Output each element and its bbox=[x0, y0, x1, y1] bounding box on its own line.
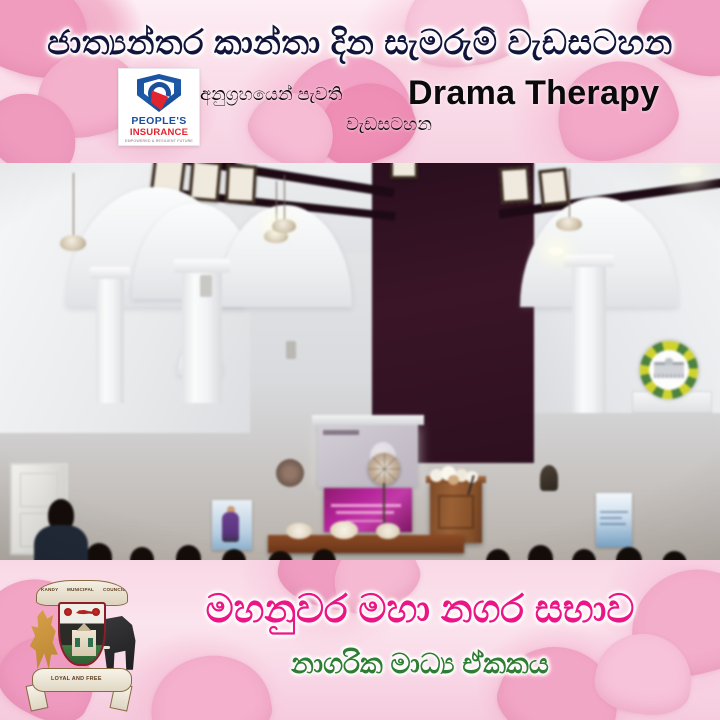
audience-member bbox=[222, 549, 246, 560]
wall-speaker bbox=[200, 275, 212, 297]
poster-main-title: ජාත්‍යන්තර කාන්තා දින සැමරුම් වැඩසටහන bbox=[0, 24, 720, 63]
wall-speaker bbox=[286, 341, 296, 359]
kandy-council-watermark-logo bbox=[640, 341, 698, 399]
audience-member bbox=[86, 543, 112, 560]
projection-screen bbox=[318, 425, 418, 487]
audience-member bbox=[616, 547, 642, 560]
podium-flowers bbox=[428, 465, 484, 485]
wall-picture-frame bbox=[188, 163, 221, 202]
audience-member bbox=[176, 545, 201, 560]
ceremonial-parasol bbox=[368, 453, 400, 485]
wall-picture-frame bbox=[499, 166, 531, 204]
insurance-logo-tagline: EMPOWERED & RESILIENT FUTURE bbox=[125, 139, 193, 143]
wall-picture-frame bbox=[390, 163, 418, 179]
audience-member bbox=[130, 547, 154, 560]
shield-icon bbox=[137, 74, 181, 112]
standee-banner bbox=[212, 500, 252, 550]
ceiling-light-glow bbox=[548, 247, 564, 255]
blue-rollup-banner bbox=[596, 493, 632, 547]
audience-member bbox=[662, 551, 687, 560]
top-banner: ජාත්‍යන්තර කාන්තා දින සැමරුම් වැඩසටහන PE… bbox=[0, 0, 720, 163]
program-title-english: Drama Therapy bbox=[408, 74, 659, 113]
speaker-podium bbox=[430, 481, 482, 543]
column-capital bbox=[90, 267, 130, 279]
media-unit-sinhala: නාගරික මාධ්‍ය ඒකකය bbox=[0, 648, 720, 681]
audience-member bbox=[572, 549, 596, 560]
decor-medallion bbox=[276, 459, 304, 487]
event-photograph bbox=[0, 163, 720, 560]
standing-person bbox=[34, 525, 88, 560]
hanging-lamp bbox=[556, 169, 582, 239]
ceiling-light-glow bbox=[680, 167, 702, 177]
wall-picture-frame bbox=[225, 164, 257, 204]
column bbox=[96, 273, 124, 403]
sponsored-by-text: අනුග්‍රහයෙන් පැවති bbox=[200, 84, 342, 105]
column-capital bbox=[174, 259, 230, 273]
statue-bust bbox=[540, 465, 558, 491]
table-flower-arrangement bbox=[330, 521, 358, 539]
audience-member bbox=[528, 545, 553, 560]
column bbox=[572, 263, 606, 413]
audience-member bbox=[486, 549, 510, 560]
event-poster: ජාත්‍යන්තර කාන්තා දින සැමරුම් වැඩසටහන PE… bbox=[0, 0, 720, 720]
peoples-insurance-logo: PEOPLE'S INSURANCE EMPOWERED & RESILIENT… bbox=[118, 68, 200, 146]
council-building-icon bbox=[654, 362, 684, 378]
column-capital bbox=[564, 255, 614, 267]
insurance-logo-name: PEOPLE'S bbox=[131, 115, 186, 127]
council-name-sinhala: මහනුවර මහා නගර සභාව bbox=[0, 588, 720, 632]
hanging-lamp bbox=[60, 173, 86, 263]
table-flower-arrangement bbox=[376, 523, 400, 539]
screen-mount bbox=[312, 415, 424, 425]
insurance-logo-subname: INSURANCE bbox=[130, 127, 188, 138]
hanging-lamp bbox=[272, 175, 296, 241]
table-flower-arrangement bbox=[286, 523, 312, 539]
program-word-sinhala: වැඩසටහන bbox=[346, 114, 432, 135]
